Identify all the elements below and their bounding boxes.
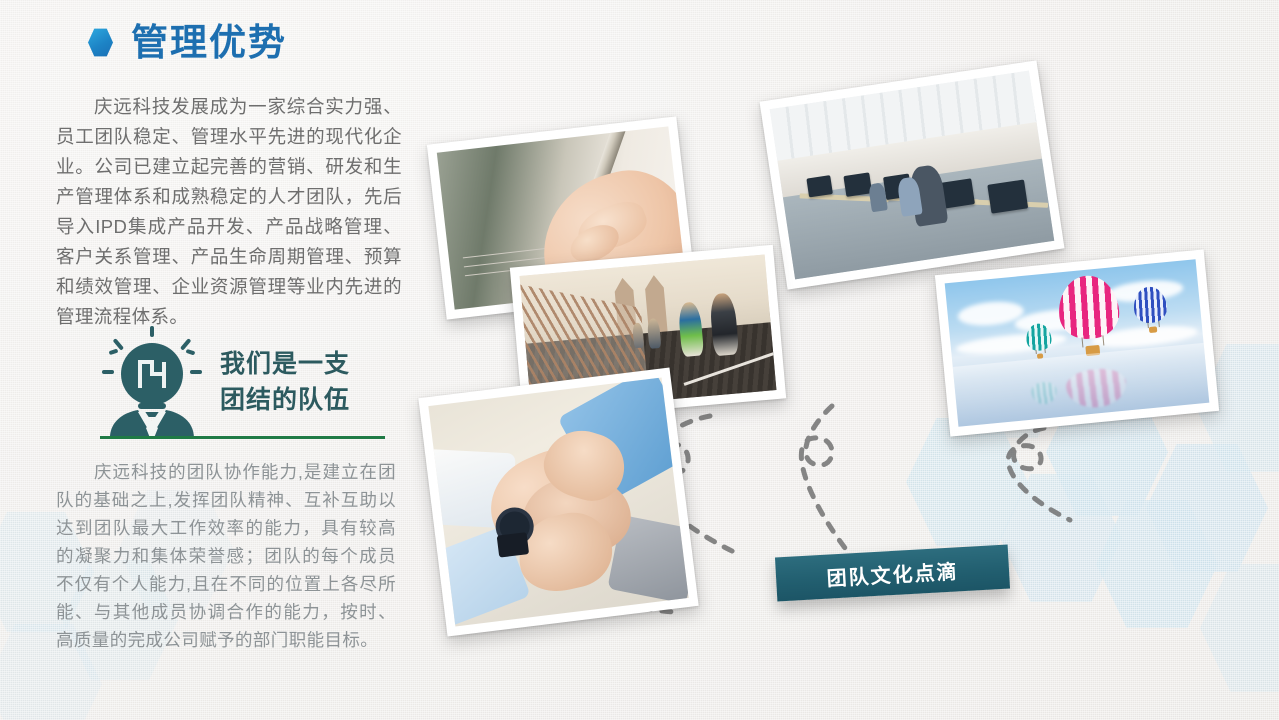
hexagon-shape (1146, 440, 1268, 576)
water-reflection (953, 342, 1210, 426)
team-culture-banner[interactable]: 团队文化点滴 (775, 545, 1010, 602)
photo-office-workstations[interactable] (759, 60, 1064, 289)
photo-team-hands[interactable] (418, 367, 698, 636)
intro-paragraph: 庆远科技发展成为一家综合实力强、员工团队稳定、管理水平先进的现代化企业。公司已建… (56, 92, 402, 332)
slide-canvas: 管理优势 庆远科技发展成为一家综合实力强、员工团队稳定、管理水平先进的现代化企业… (0, 0, 1279, 720)
balloon-envelope (1132, 285, 1168, 324)
team-identity-block: 我们是一支 团结的队伍 (100, 326, 350, 438)
page-title-text: 管理优势 (131, 24, 287, 61)
page-title: 管理优势 (88, 24, 287, 61)
hexagon-shape (1200, 560, 1279, 696)
lightbulb-person-icon (100, 326, 204, 438)
banner-label: 团队文化点滴 (826, 555, 959, 591)
team-paragraph: 庆远科技的团队协作能力,是建立在团队的基础之上,发挥团队精神、互补互助以达到团队… (56, 458, 396, 654)
photo-image (428, 378, 688, 627)
balloon-teal (1025, 322, 1053, 359)
monitor (807, 175, 833, 197)
photo-image (945, 259, 1210, 426)
photo-hot-air-balloons[interactable] (935, 249, 1219, 436)
balloon-envelope (1056, 273, 1122, 341)
hexagon-shape (1000, 470, 1122, 606)
balloon-envelope (1025, 322, 1053, 351)
photo-image (770, 71, 1055, 280)
monitor (988, 179, 1029, 213)
green-underline-divider (100, 436, 385, 439)
hexagon-shape (1096, 496, 1218, 632)
team-heading: 我们是一支 团结的队伍 (220, 346, 350, 418)
balloon-basket (1149, 326, 1157, 333)
balloon-blue (1132, 285, 1169, 334)
balloon-pink (1056, 273, 1124, 359)
hexagon-icon (88, 28, 113, 57)
monitor (843, 173, 872, 197)
